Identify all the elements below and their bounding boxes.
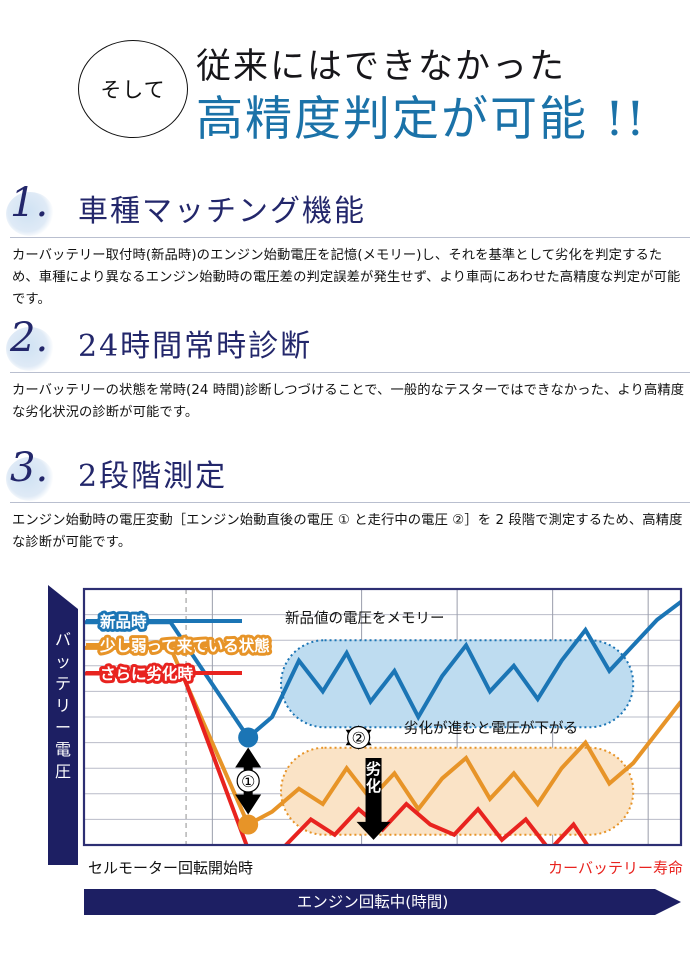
x-note-left: セルモーター回転開始時 [88,859,253,877]
y-axis-label-char: リ [55,696,71,715]
y-axis-label-char: 圧 [55,762,71,781]
y-axis-label-char: ー [55,718,71,737]
legend-label-0: 新品時 [100,612,147,631]
new-band [281,640,633,727]
y-axis-label-char: 電 [55,740,71,759]
header-badge: そして [78,40,188,138]
y-axis-label-char: ッ [55,652,71,671]
x-note-right: カーバッテリー寿命 [548,859,683,877]
step2-note: 劣化が進むと電圧が下がる [404,720,578,737]
infographic-page: そして 従来にはできなかった 高精度判定が可能 !! 1. 車種マッチング機能 … [0,0,700,960]
header-badge-label: そして [100,74,165,104]
legend-label-2: さらに劣化時 [100,664,194,683]
section-3-number: 3. [10,445,48,491]
x-axis-bar: エンジン回転中(時間) [84,889,681,915]
marker-one-label: ① [241,772,255,791]
memory-note: 新品値の電圧をメモリー [285,610,445,627]
degrade-arrow-label-char: 化 [366,777,381,795]
section-2-body: カーバッテリーの状態を常時(24 時間)診断しつづけることで、一般的なテスターで… [12,380,688,424]
weak-band [281,748,633,835]
legend-label-1: 少し弱って来ている状態 [99,636,270,655]
y-axis-label-char: バ [55,630,71,649]
marker-two-label: ② [351,728,365,747]
section-3-title: 2段階測定 [78,451,227,495]
weak-start-dot [238,815,258,835]
voltage-chart: ①②劣化新品値の電圧をメモリー劣化が進むと電圧が下がる新品時新品時少し弱って来て… [0,572,700,932]
section-2-rule [10,372,690,373]
header-line-2: 高精度判定が可能 !! [196,80,647,149]
x-axis-label: エンジン回転中(時間) [297,893,449,911]
voltage-chart-svg: ①②劣化新品値の電圧をメモリー劣化が進むと電圧が下がる新品時新品時少し弱って来て… [0,572,700,937]
section-2-title: 24時間常時診断 [78,321,312,365]
degrade-arrow-label-char: 劣 [366,760,381,778]
section-1-rule [10,237,690,238]
section-1-body: カーバッテリー取付時(新品時)のエンジン始動電圧を記憶(メモリー)し、それを基準… [12,245,688,311]
section-1-title: 車種マッチング機能 [78,186,366,230]
section-1-number: 1. [10,180,48,226]
section-2-number: 2. [10,315,48,361]
section-3-rule [10,502,690,503]
y-axis-bar: バッテリー電圧 [48,585,78,865]
header: そして 従来にはできなかった 高精度判定が可能 !! [0,18,700,148]
new-start-dot [238,727,258,747]
section-3-body: エンジン始動時の電圧変動［エンジン始動直後の電圧 ① と走行中の電圧 ②］を 2… [12,510,688,554]
y-axis-label-char: テ [55,674,71,693]
